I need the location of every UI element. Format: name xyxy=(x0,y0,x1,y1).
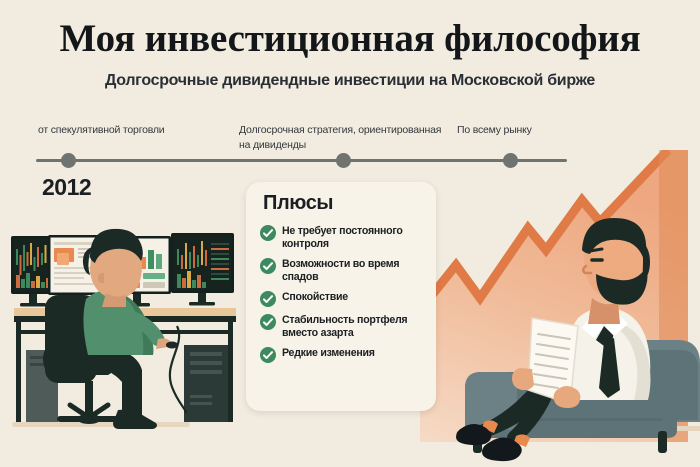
investor-reading-graphic xyxy=(420,150,700,467)
pros-card-title: Плюсы xyxy=(263,192,333,215)
hand-upper xyxy=(512,368,534,390)
list-item: Стабильность портфеля вместо азарта xyxy=(260,313,428,340)
left-illustration xyxy=(0,195,250,467)
mouse xyxy=(166,342,178,349)
timeline-track xyxy=(36,159,567,162)
check-circle-icon xyxy=(260,347,276,363)
monitor-far-right xyxy=(171,233,234,306)
timeline-label-3: По всему рынку xyxy=(457,123,587,138)
timeline-year: 2012 xyxy=(42,174,91,201)
timeline-dot-2[interactable] xyxy=(336,153,351,168)
pros-card: Плюсы Не требует постоянного контроля Во… xyxy=(246,182,436,411)
page-subtitle: Долгосрочные дивидендные инвестиции на М… xyxy=(0,70,700,92)
list-item: Не требует постоянного контроля xyxy=(260,224,428,251)
list-item-label: Стабильность портфеля вместо азарта xyxy=(282,313,428,340)
eyebrow xyxy=(590,249,602,251)
list-item-label: Редкие изменения xyxy=(282,346,375,360)
check-circle-icon xyxy=(260,258,276,274)
timeline-label-1: от спекулятивной торговли xyxy=(38,123,228,138)
list-item: Редкие изменения xyxy=(260,346,428,363)
check-circle-icon xyxy=(260,314,276,330)
page-title: Моя инвестиционная философия xyxy=(0,16,700,62)
armchair-leg-right xyxy=(658,431,667,453)
list-item-label: Спокойствие xyxy=(282,290,348,304)
floor-line xyxy=(12,422,190,427)
timeline-dot-3[interactable] xyxy=(503,153,518,168)
list-item: Спокойствие xyxy=(260,290,428,307)
cable xyxy=(170,326,186,413)
list-item-label: Возможности во время спадов xyxy=(282,257,428,284)
timeline-label-2: Долгосрочная стратегия, ориентированная … xyxy=(239,123,454,153)
trader-at-monitors-graphic xyxy=(0,195,250,467)
pros-list: Не требует постоянного контроля Возможно… xyxy=(260,224,428,369)
infographic-canvas: Моя инвестиционная философия Долгосрочны… xyxy=(0,0,700,467)
list-item-label: Не требует постоянного контроля xyxy=(282,224,428,251)
check-circle-icon xyxy=(260,291,276,307)
list-item: Возможности во время спадов xyxy=(260,257,428,284)
right-illustration xyxy=(420,150,700,467)
pc-tower-right xyxy=(184,345,228,422)
timeline-dot-1[interactable] xyxy=(61,153,76,168)
timeline: от спекулятивной торговли Долгосрочная с… xyxy=(0,118,700,168)
check-circle-icon xyxy=(260,225,276,241)
